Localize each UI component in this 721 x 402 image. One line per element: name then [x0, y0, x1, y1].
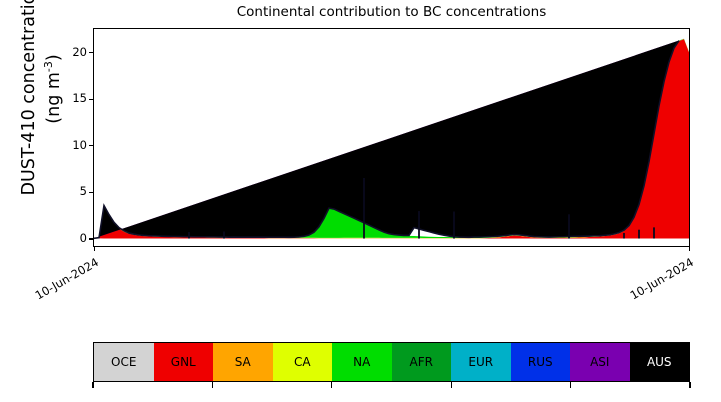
legend-item-rus[interactable]: RUS — [511, 343, 571, 381]
y-axis-label-line1: DUST-410 concentration — [19, 0, 39, 195]
y-tick-label: 20 — [51, 45, 87, 59]
legend-item-ca[interactable]: CA — [273, 343, 333, 381]
legend-item-label: NA — [353, 355, 370, 369]
legend-tick-mark — [689, 382, 690, 388]
legend-item-afr[interactable]: AFR — [392, 343, 452, 381]
legend-item-asi[interactable]: ASI — [570, 343, 630, 381]
legend-tick-mark — [570, 382, 571, 388]
chart-title: Continental contribution to BC concentra… — [93, 4, 690, 20]
figure-canvas: Continental contribution to BC concentra… — [0, 0, 721, 402]
y-axis-label: DUST-410 concentration (ng m-3) — [20, 0, 48, 219]
legend-item-label: SA — [235, 355, 251, 369]
legend-item-eur[interactable]: EUR — [451, 343, 511, 381]
y-tick-label: 10 — [51, 138, 87, 152]
y-tick-label: 15 — [51, 91, 87, 105]
plot-area — [93, 28, 690, 247]
legend-item-label: CA — [294, 355, 311, 369]
area-series-aus — [94, 41, 679, 239]
legend-item-label: EUR — [468, 355, 493, 369]
y-tick-label: 5 — [51, 184, 87, 198]
legend-item-label: OCE — [111, 355, 136, 369]
stacked-area-plot — [94, 29, 689, 246]
legend-item-oce[interactable]: OCE — [94, 343, 154, 381]
legend-item-label: RUS — [528, 355, 553, 369]
y-axis-tick-labels: 05101520 — [47, 28, 87, 247]
legend-item-aus[interactable]: AUS — [630, 343, 690, 381]
legend-item-sa[interactable]: SA — [213, 343, 273, 381]
legend-item-label: AUS — [647, 355, 672, 369]
legend-item-label: AFR — [410, 355, 433, 369]
legend: OCEGNLSACANAAFREURRUSASIAUS — [93, 342, 690, 382]
x-tick-mark — [94, 247, 95, 251]
x-tick-label: 10-Jun-2024 — [615, 255, 696, 310]
legend-tick-mark — [92, 382, 93, 388]
legend-tick-mark — [451, 382, 452, 388]
legend-item-label: ASI — [590, 355, 609, 369]
legend-item-label: GNL — [171, 355, 196, 369]
legend-item-na[interactable]: NA — [332, 343, 392, 381]
legend-item-gnl[interactable]: GNL — [154, 343, 214, 381]
y-tick-label: 0 — [51, 231, 87, 245]
legend-tick-mark — [331, 382, 332, 388]
x-tick-label: 10-Jun-2024 — [20, 255, 101, 310]
x-tick-mark — [689, 247, 690, 251]
legend-tick-mark — [212, 382, 213, 388]
